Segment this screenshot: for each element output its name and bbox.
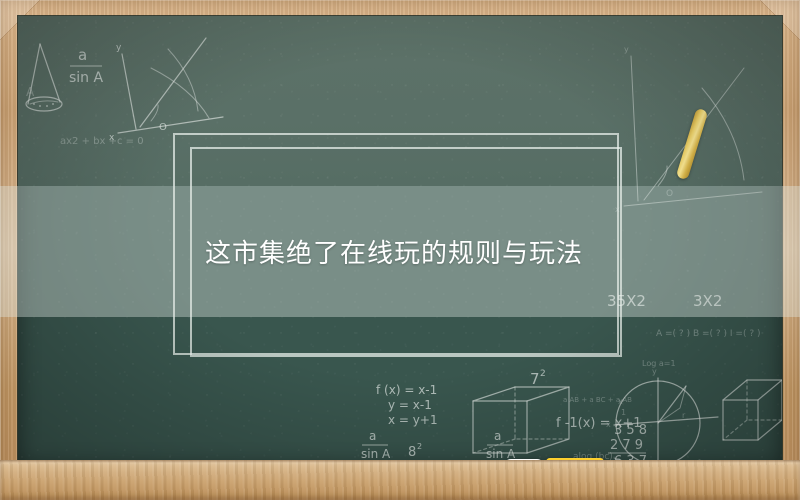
ledge-top-edge [0,460,800,463]
chalk-ledge [0,460,800,500]
board-vignette [18,16,782,466]
chalkboard-surface: a sin A ax2 + bx +c = 0 y x O [18,16,782,466]
chalkboard-screenshot: a sin A ax2 + bx +c = 0 y x O [0,0,800,500]
